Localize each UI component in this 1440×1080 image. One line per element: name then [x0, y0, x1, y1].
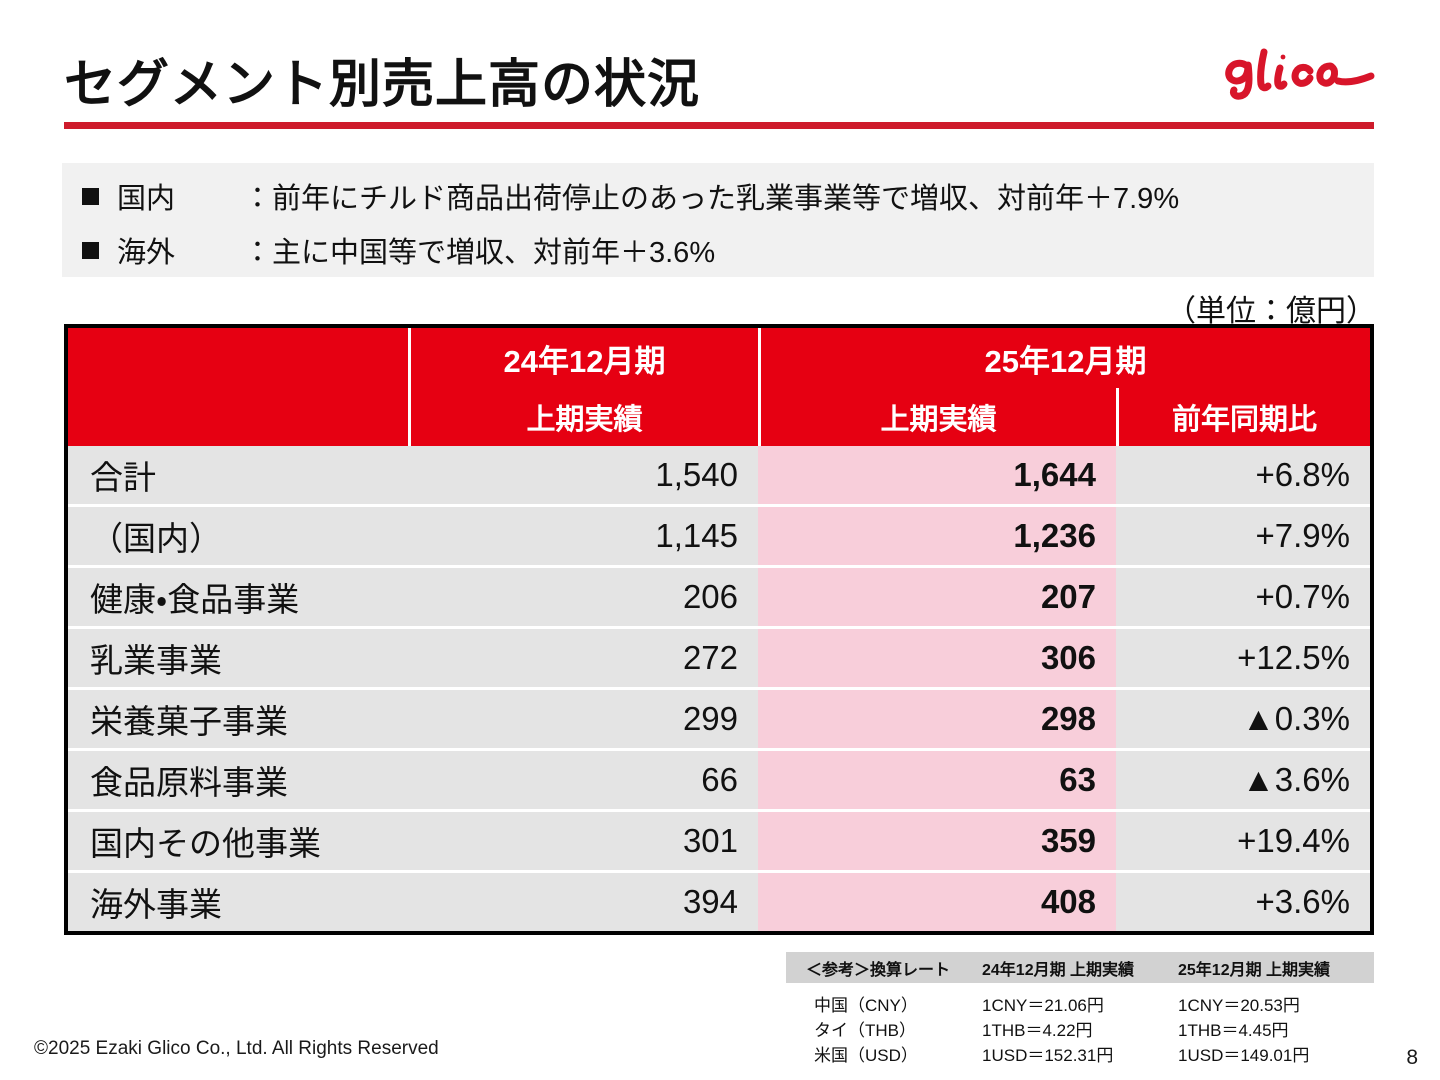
row-prev-value: 1,540 — [408, 446, 758, 504]
row-prev-value: 272 — [408, 629, 758, 687]
fx-row: 米国（USD） 1USD＝152.31円 1USD＝149.01円 — [786, 1041, 1374, 1066]
header-cur-period: 25年12月期 — [758, 328, 1370, 388]
fx-country: 米国（USD） — [786, 1041, 982, 1066]
glico-logo — [1216, 44, 1382, 108]
row-cur-value: 1,236 — [758, 507, 1116, 565]
page-number: 8 — [1406, 1046, 1418, 1070]
row-prev-value: 206 — [408, 568, 758, 626]
square-bullet-icon — [82, 242, 99, 259]
fx-row: 中国（CNY） 1CNY＝21.06円 1CNY＝20.53円 — [786, 991, 1374, 1016]
fx-header-cur: 25年12月期 上期実績 — [1178, 956, 1374, 980]
fx-table-header: ＜参考＞換算レート 24年12月期 上期実績 25年12月期 上期実績 — [786, 952, 1374, 983]
table-row: 乳業事業 272 306 +12.5% — [68, 626, 1370, 687]
fx-reference-table: ＜参考＞換算レート 24年12月期 上期実績 25年12月期 上期実績 中国（C… — [786, 952, 1374, 1066]
row-yoy-value: ▲0.3% — [1116, 690, 1370, 748]
row-label: 健康・食品事業 — [68, 568, 408, 626]
row-yoy-value: +3.6% — [1116, 873, 1370, 931]
fx-header-label: ＜参考＞換算レート — [786, 956, 982, 980]
copyright-notice: ©2025 Ezaki Glico Co., Ltd. All Rights R… — [34, 1038, 439, 1060]
table-row: （国内） 1,145 1,236 +7.9% — [68, 504, 1370, 565]
summary-bullet-domestic: 国内 ：前年にチルド商品出荷停止のあった乳業事業等で増収、対前年＋7.9% — [82, 175, 1179, 217]
table-row: 健康・食品事業 206 207 +0.7% — [68, 565, 1370, 626]
fx-cur-rate: 1CNY＝20.53円 — [1178, 991, 1374, 1016]
row-yoy-value: +7.9% — [1116, 507, 1370, 565]
header-corner-cell-lower — [68, 388, 408, 446]
table-header: 24年12月期 25年12月期 上期実績 上期実績 前年同期比 — [68, 328, 1370, 446]
row-yoy-value: +6.8% — [1116, 446, 1370, 504]
fx-cur-rate: 1USD＝149.01円 — [1178, 1041, 1374, 1066]
table-row: 海外事業 394 408 +3.6% — [68, 870, 1370, 931]
fx-prev-rate: 1USD＝152.31円 — [982, 1041, 1178, 1066]
row-label: 食品原料事業 — [68, 751, 408, 809]
row-label: 栄養菓子事業 — [68, 690, 408, 748]
table-row: 合計 1,540 1,644 +6.8% — [68, 446, 1370, 504]
row-label: 合計 — [68, 446, 408, 504]
header-prev-period: 24年12月期 — [408, 328, 758, 388]
header-prev-sub: 上期実績 — [408, 388, 758, 446]
fx-prev-rate: 1THB＝4.22円 — [982, 1016, 1178, 1041]
header-corner-cell — [68, 328, 408, 388]
summary-bullet-overseas: 海外 ：主に中国等で増収、対前年＋3.6% — [82, 229, 715, 271]
row-cur-value: 207 — [758, 568, 1116, 626]
table-row: 栄養菓子事業 299 298 ▲0.3% — [68, 687, 1370, 748]
fx-cur-rate: 1THB＝4.45円 — [1178, 1016, 1374, 1041]
row-cur-value: 1,644 — [758, 446, 1116, 504]
table-header-row-period: 24年12月期 25年12月期 — [68, 328, 1370, 388]
fx-country: 中国（CNY） — [786, 991, 982, 1016]
summary-bullet-text: ：主に中国等で増収、対前年＋3.6% — [243, 229, 715, 271]
fx-header-prev: 24年12月期 上期実績 — [982, 956, 1178, 980]
row-label: 海外事業 — [68, 873, 408, 931]
row-label: （国内） — [68, 507, 408, 565]
row-label: 国内その他事業 — [68, 812, 408, 870]
fx-row: タイ（THB） 1THB＝4.22円 1THB＝4.45円 — [786, 1016, 1374, 1041]
row-prev-value: 1,145 — [408, 507, 758, 565]
row-yoy-value: +19.4% — [1116, 812, 1370, 870]
row-cur-value: 63 — [758, 751, 1116, 809]
row-cur-value: 408 — [758, 873, 1116, 931]
row-label: 乳業事業 — [68, 629, 408, 687]
page-title: セグメント別売上高の状況 — [64, 42, 700, 117]
header-yoy-sub: 前年同期比 — [1116, 388, 1370, 446]
title-underline-rule — [64, 122, 1374, 129]
row-yoy-value: +0.7% — [1116, 568, 1370, 626]
summary-bullet-category: 国内 — [117, 175, 243, 217]
summary-bullet-text: ：前年にチルド商品出荷停止のあった乳業事業等で増収、対前年＋7.9% — [243, 175, 1179, 217]
summary-box: 国内 ：前年にチルド商品出荷停止のあった乳業事業等で増収、対前年＋7.9% 海外… — [62, 163, 1374, 277]
row-prev-value: 301 — [408, 812, 758, 870]
fx-country: タイ（THB） — [786, 1016, 982, 1041]
row-prev-value: 394 — [408, 873, 758, 931]
row-yoy-value: +12.5% — [1116, 629, 1370, 687]
row-cur-value: 306 — [758, 629, 1116, 687]
header-cur-sub: 上期実績 — [758, 388, 1116, 446]
row-cur-value: 359 — [758, 812, 1116, 870]
fx-table-body: 中国（CNY） 1CNY＝21.06円 1CNY＝20.53円 タイ（THB） … — [786, 983, 1374, 1066]
row-prev-value: 66 — [408, 751, 758, 809]
summary-bullet-category: 海外 — [117, 229, 243, 271]
row-cur-value: 298 — [758, 690, 1116, 748]
row-yoy-value: ▲3.6% — [1116, 751, 1370, 809]
table-row: 食品原料事業 66 63 ▲3.6% — [68, 748, 1370, 809]
fx-prev-rate: 1CNY＝21.06円 — [982, 991, 1178, 1016]
row-prev-value: 299 — [408, 690, 758, 748]
square-bullet-icon — [82, 188, 99, 205]
segment-sales-table: 24年12月期 25年12月期 上期実績 上期実績 前年同期比 合計 1,540… — [64, 324, 1374, 935]
table-header-row-subcolumns: 上期実績 上期実績 前年同期比 — [68, 388, 1370, 446]
table-row: 国内その他事業 301 359 +19.4% — [68, 809, 1370, 870]
table-body: 合計 1,540 1,644 +6.8% （国内） 1,145 1,236 +7… — [68, 446, 1370, 931]
